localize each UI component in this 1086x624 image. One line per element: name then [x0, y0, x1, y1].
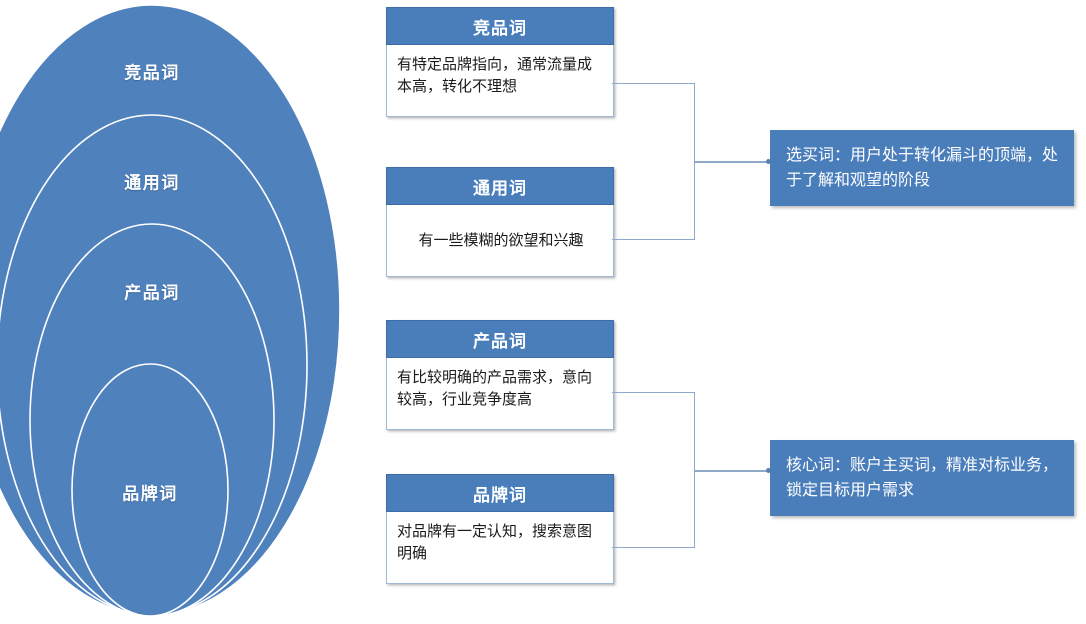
bracket-connector-top	[612, 83, 695, 240]
connector-line-bottom	[695, 470, 771, 472]
ellipse-label-jingpin: 竞品词	[124, 59, 180, 84]
ellipse-label-pinpai: 品牌词	[122, 480, 178, 505]
card-chanpin[interactable]: 产品词 有比较明确的产品需求，意向较高，行业竞争度高	[386, 320, 614, 430]
card-jingpin-body: 有特定品牌指向，通常流量成本高，转化不理想	[386, 45, 614, 117]
card-tongyong[interactable]: 通用词 有一些模糊的欲望和兴趣	[386, 167, 614, 277]
summary-select-text: 选买词：用户处于转化漏斗的顶端，处于了解和观望的阶段	[786, 147, 1058, 189]
card-tongyong-header: 通用词	[386, 167, 614, 205]
summary-core-text: 核心词：账户主买词，精准对标业务，锁定目标用户需求	[786, 457, 1058, 499]
summary-box-core-word[interactable]: 核心词：账户主买词，精准对标业务，锁定目标用户需求	[770, 440, 1074, 516]
card-chanpin-header: 产品词	[386, 320, 614, 358]
card-jingpin-header: 竞品词	[386, 7, 614, 45]
ellipse-label-chanpin: 产品词	[124, 279, 180, 304]
card-chanpin-body: 有比较明确的产品需求，意向较高，行业竞争度高	[386, 358, 614, 430]
bracket-connector-bottom	[612, 392, 695, 548]
card-pinpai-header: 品牌词	[386, 474, 614, 512]
summary-box-select-buy-word[interactable]: 选买词：用户处于转化漏斗的顶端，处于了解和观望的阶段	[770, 130, 1074, 206]
nested-ellipses-svg	[0, 0, 380, 619]
card-jingpin[interactable]: 竞品词 有特定品牌指向，通常流量成本高，转化不理想	[386, 7, 614, 117]
diagram-canvas: 竞品词 通用词 产品词 品牌词 竞品词 有特定品牌指向，通常流量成本高，转化不理…	[0, 0, 1086, 619]
connector-line-top	[695, 161, 771, 163]
card-tongyong-body: 有一些模糊的欲望和兴趣	[386, 205, 614, 277]
card-pinpai-body: 对品牌有一定认知，搜索意图明确	[386, 512, 614, 584]
card-pinpai[interactable]: 品牌词 对品牌有一定认知，搜索意图明确	[386, 474, 614, 584]
ellipse-label-tongyong: 通用词	[124, 169, 180, 194]
nested-ellipse-group: 竞品词 通用词 产品词 品牌词	[0, 0, 380, 619]
